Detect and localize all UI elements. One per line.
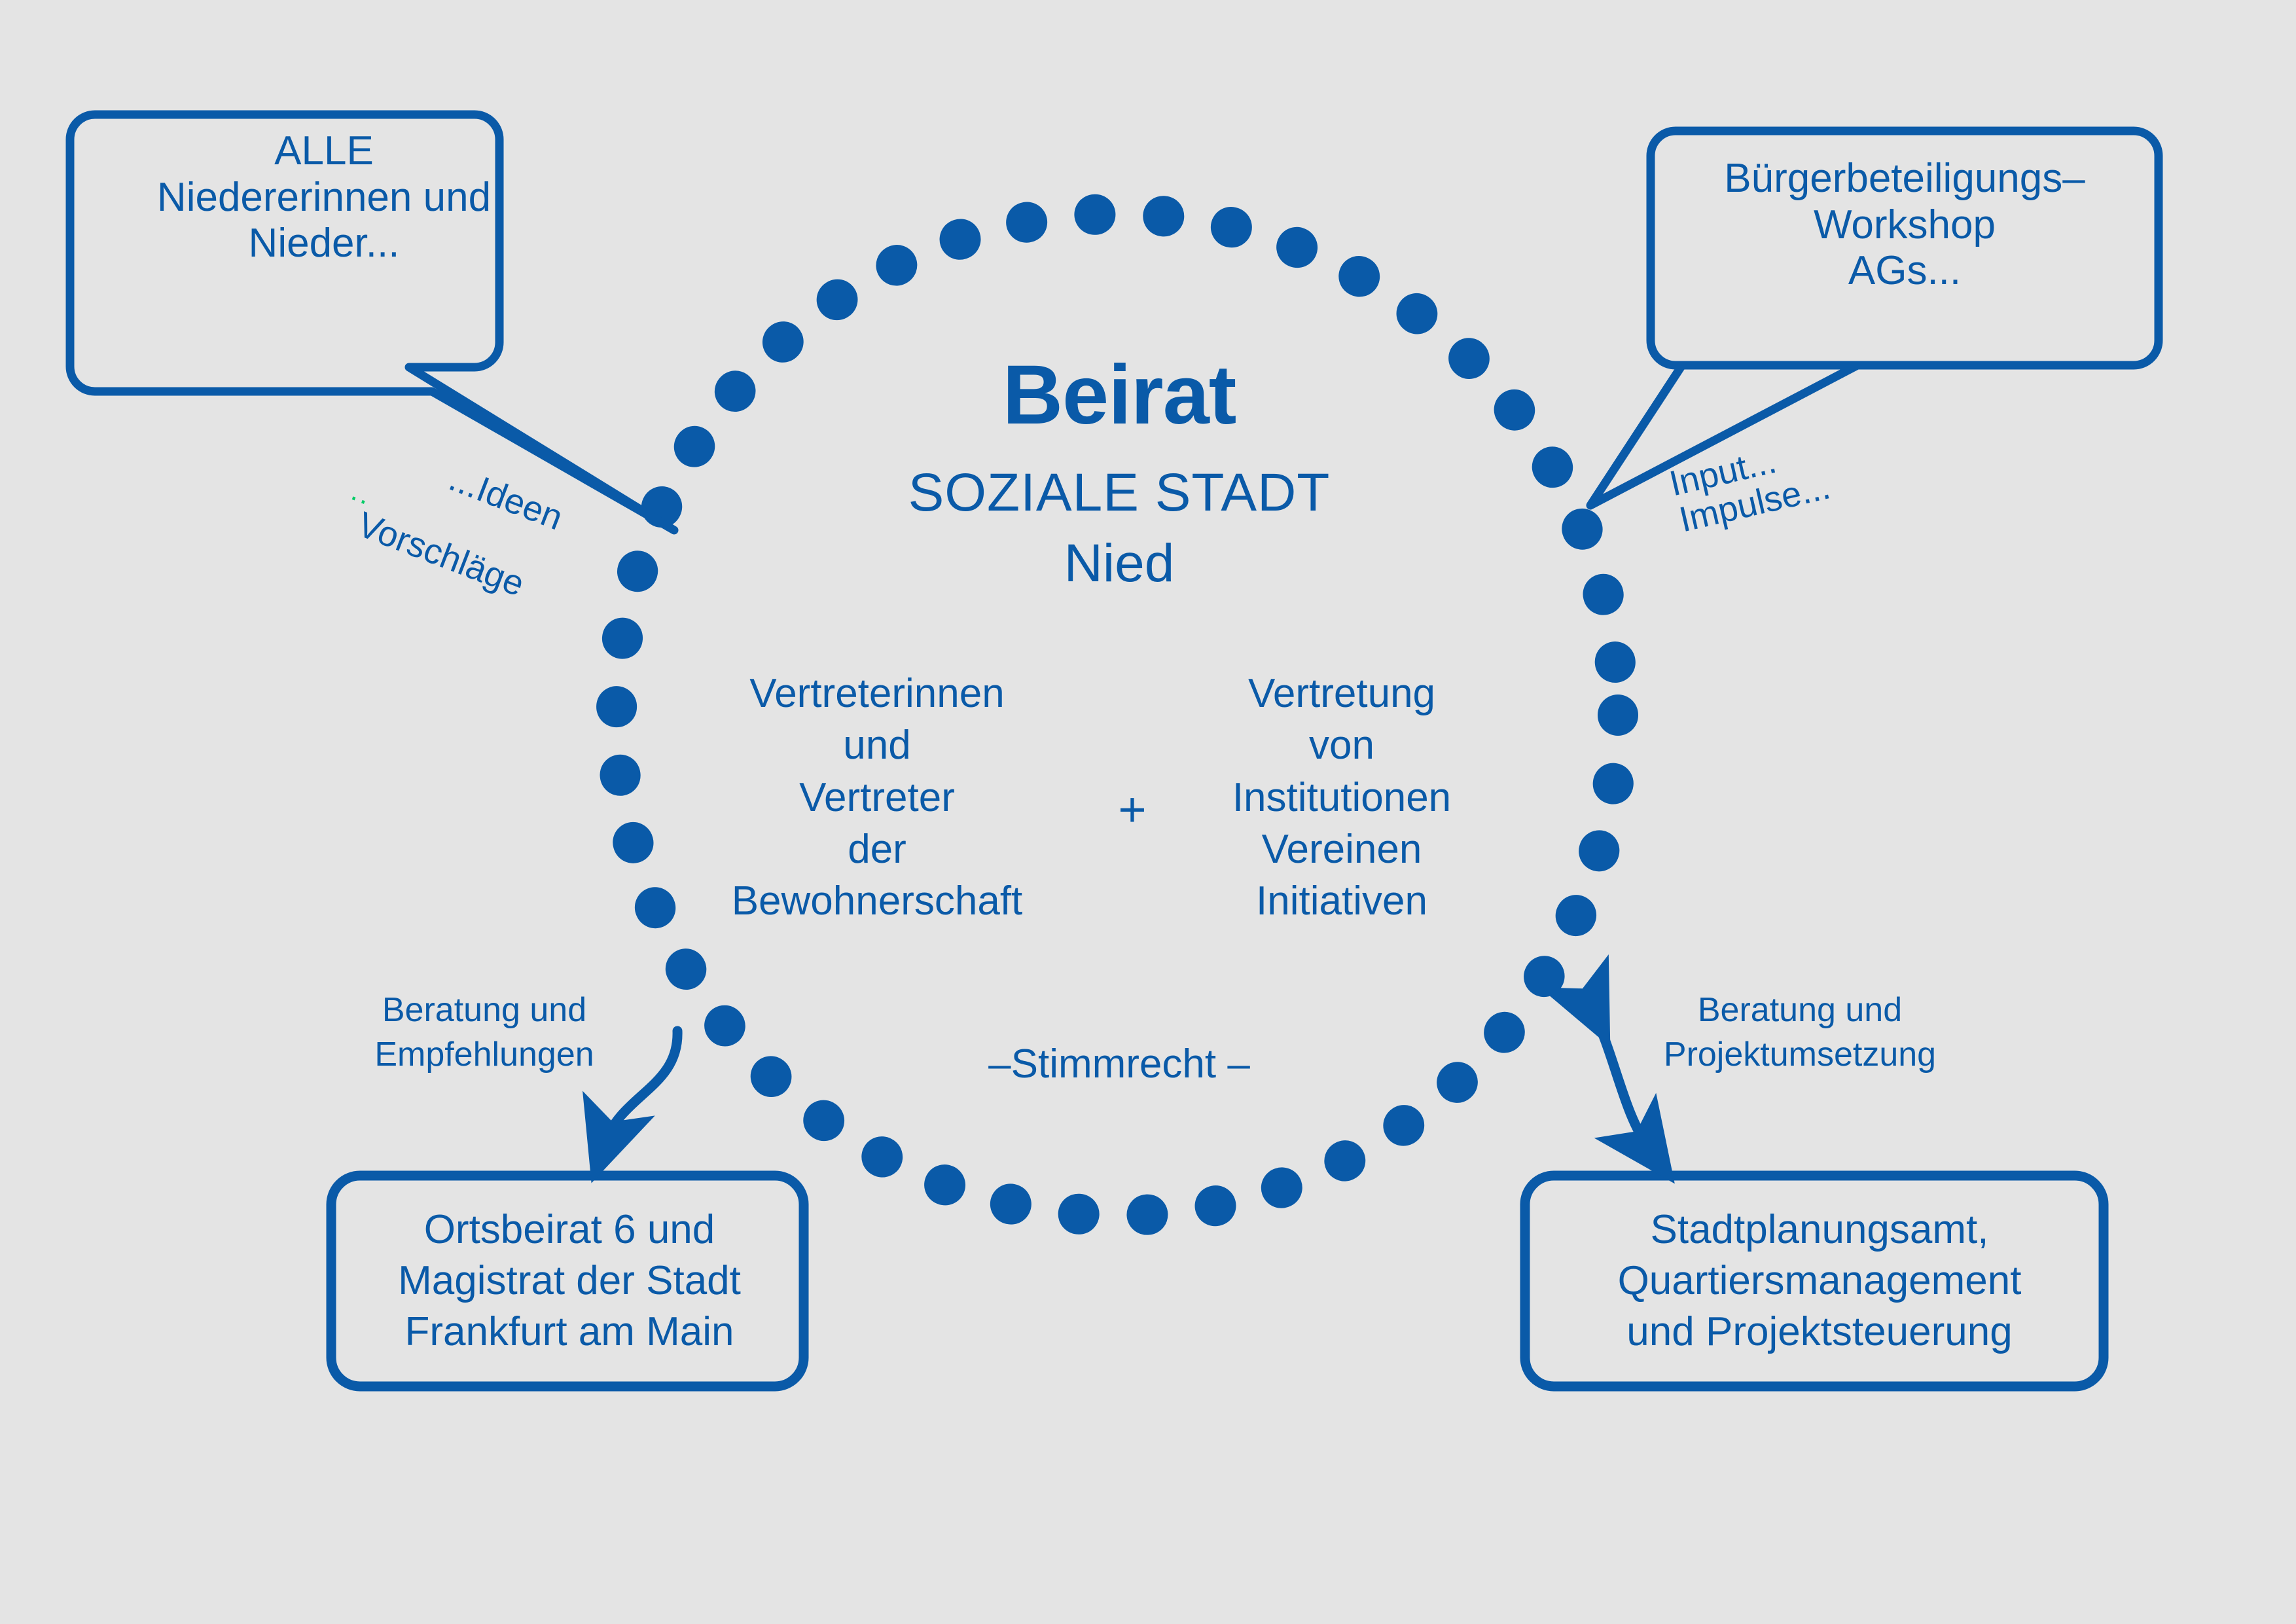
column-institutionen: VertretungvonInstitutionenVereinenInitia… — [1178, 668, 1505, 928]
box-stadtplanungsamt-label: Stadtplanungsamt,Quartiersmanagementund … — [1525, 1204, 2114, 1358]
speech-bubble-right-label: Bürgerbeteiligungs–WorkshopAGs... — [1676, 156, 2134, 295]
stimmrecht-note: –Stimmrecht – — [916, 1041, 1322, 1087]
diagram-canvas: ALLENiedererinnen undNieder... Bürgerbet… — [0, 0, 2296, 1624]
page-subtitle-line1: SOZIALE STADT — [785, 466, 1453, 520]
page-title: Beirat — [785, 353, 1453, 437]
speech-bubble-left-label: ALLENiedererinnen undNieder... — [92, 128, 556, 267]
plus-sign: + — [1086, 785, 1178, 834]
arrow-label-beratung-empfehlungen: Beratung undEmpfehlungen — [340, 988, 628, 1077]
arrow-label-beratung-projektumsetzung: Beratung undProjektumsetzung — [1636, 988, 1964, 1077]
page-subtitle-line2: Nied — [785, 537, 1453, 590]
box-ortsbeirat-label: Ortsbeirat 6 undMagistrat der StadtFrank… — [340, 1204, 798, 1358]
column-bewohnerschaft: VertreterinnenundVertreterderBewohnersch… — [674, 668, 1080, 928]
